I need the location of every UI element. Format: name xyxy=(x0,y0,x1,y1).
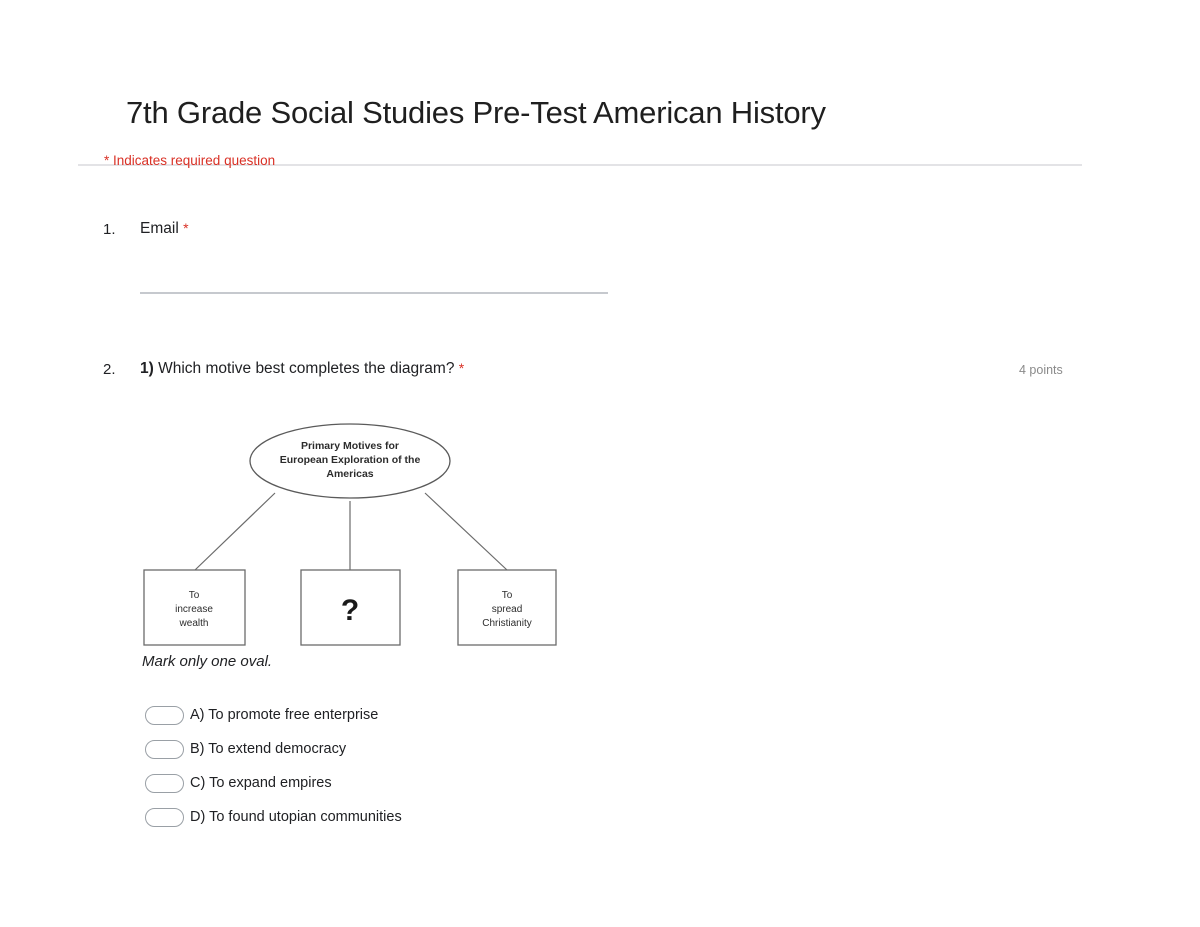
diagram-box-right-line-1: To xyxy=(502,590,513,601)
option-label: B) To extend democracy xyxy=(190,741,346,757)
diagram-oval-line-3: Americas xyxy=(326,468,373,480)
email-field[interactable] xyxy=(140,292,608,294)
diagram-box-right-line-3: Christianity xyxy=(482,618,531,629)
option-row[interactable]: A) To promote free enterprise xyxy=(145,698,402,732)
question-1-label-text: Email xyxy=(140,220,179,237)
required-asterisk: * xyxy=(459,360,464,376)
radio-oval-icon[interactable] xyxy=(145,774,184,793)
radio-oval-icon[interactable] xyxy=(145,740,184,759)
exploration-motives-diagram: Primary Motives for European Exploration… xyxy=(135,415,575,655)
connector-right xyxy=(425,493,507,570)
page-title: 7th Grade Social Studies Pre-Test Americ… xyxy=(126,95,826,131)
diagram-box-left-line-3: wealth xyxy=(179,618,209,629)
question-2-points: 4 points xyxy=(1019,363,1063,377)
radio-oval-icon[interactable] xyxy=(145,808,184,827)
diagram-box-left-line-2: increase xyxy=(175,604,213,615)
option-label: A) To promote free enterprise xyxy=(190,707,378,723)
question-2-prefix: 1) xyxy=(140,360,154,377)
diagram-question-mark: ? xyxy=(341,594,359,627)
mark-one-oval-instruction: Mark only one oval. xyxy=(142,653,272,670)
question-1-label: Email * xyxy=(140,220,189,238)
option-row[interactable]: B) To extend democracy xyxy=(145,732,402,766)
question-2-label-text: Which motive best completes the diagram? xyxy=(158,360,454,377)
required-asterisk: * xyxy=(183,220,188,236)
diagram-oval-line-1: Primary Motives for xyxy=(301,440,399,452)
question-2-number: 2. xyxy=(103,361,116,378)
option-label: C) To expand empires xyxy=(190,775,332,791)
radio-oval-icon[interactable] xyxy=(145,706,184,725)
diagram-box-right-line-2: spread xyxy=(492,604,523,615)
diagram-oval-line-2: European Exploration of the xyxy=(280,454,421,466)
connector-left xyxy=(195,493,275,570)
option-label: D) To found utopian communities xyxy=(190,809,402,825)
question-2-label: 1) Which motive best completes the diagr… xyxy=(140,360,464,378)
diagram-box-left-line-1: To xyxy=(189,590,200,601)
form-page: 7th Grade Social Studies Pre-Test Americ… xyxy=(0,0,1200,927)
option-row[interactable]: D) To found utopian communities xyxy=(145,800,402,834)
required-question-note: * Indicates required question xyxy=(104,153,275,168)
option-row[interactable]: C) To expand empires xyxy=(145,766,402,800)
question-2-options: A) To promote free enterprise B) To exte… xyxy=(145,698,402,834)
question-1-number: 1. xyxy=(103,221,116,238)
